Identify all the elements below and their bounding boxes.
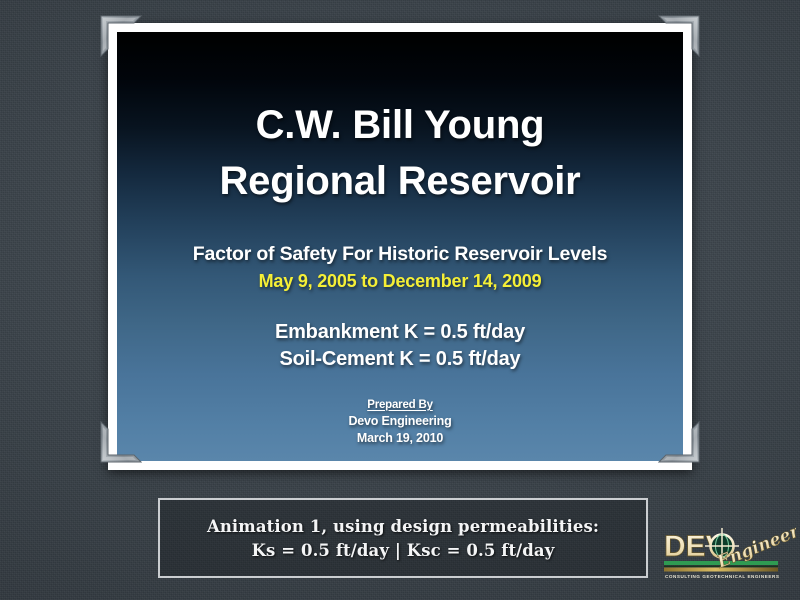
parameter-embankment-k: Embankment K = 0.5 ft/day — [275, 321, 525, 344]
presentation-backdrop: C.W. Bill Young Regional Reservoir Facto… — [0, 0, 800, 600]
slide-title-line-1: C.W. Bill Young — [256, 104, 545, 146]
prepared-by-label: Prepared By — [367, 399, 433, 411]
svg-text:Engineering: Engineering — [713, 591, 796, 596]
slide-canvas: C.W. Bill Young Regional Reservoir Facto… — [117, 32, 683, 461]
caption-line-1: Animation 1, using design permeabilities… — [207, 517, 599, 536]
slide-content: C.W. Bill Young Regional Reservoir Facto… — [117, 32, 683, 461]
slide-subtitle: Factor of Safety For Historic Reservoir … — [193, 243, 608, 266]
parameter-soil-cement-k: Soil-Cement K = 0.5 ft/day — [280, 348, 521, 371]
slide-title-line-2: Regional Reservoir — [220, 160, 581, 202]
prepared-by-date: March 19, 2010 — [357, 431, 443, 445]
animation-caption-box: Animation 1, using design permeabilities… — [158, 498, 648, 578]
caption-line-2: Ks = 0.5 ft/day | Ksc = 0.5 ft/day — [252, 541, 555, 560]
logo-tagline-text: CONSULTING GEOTECHNICAL ENGINEERS — [665, 574, 779, 579]
prepared-by-organization: Devo Engineering — [348, 414, 451, 428]
slide-date-range: May 9, 2005 to December 14, 2009 — [259, 271, 542, 292]
slide-white-frame: C.W. Bill Young Regional Reservoir Facto… — [108, 23, 692, 470]
devo-engineering-logo: DEV CONSULTING GEOTECHNICAL ENGINEERS En… — [660, 520, 796, 596]
